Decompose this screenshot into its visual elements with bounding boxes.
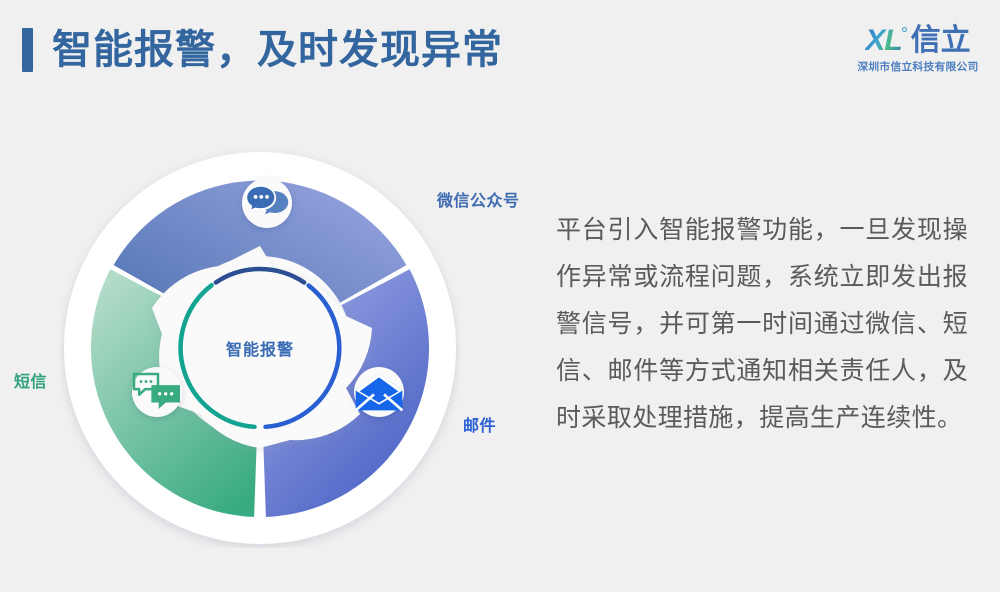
channel-icon-wechat[interactable]	[242, 178, 292, 228]
description-paragraph: 平台引入智能报警功能，一旦发现操作异常或流程问题，系统立即发出报警信号，并可第一…	[556, 206, 968, 441]
title-accent-bar	[22, 28, 33, 72]
label-wechat: 微信公众号	[437, 187, 520, 211]
label-sms: 短信	[14, 368, 47, 392]
sms-chat-bubbles-icon	[132, 192, 182, 592]
channel-icon-sms[interactable]	[132, 367, 182, 417]
logo-wordmark: XL 信立	[848, 26, 988, 56]
company-logo: XL 信立 深圳市信立科技有限公司	[848, 26, 988, 74]
logo-company-full: 深圳市信立科技有限公司	[847, 59, 990, 74]
logo-registered-dot-icon	[902, 27, 907, 32]
wechat-chat-bubbles-icon	[242, 3, 292, 403]
label-email: 邮件	[463, 412, 496, 436]
envelope-icon	[354, 192, 404, 592]
logo-xl-text: XL	[865, 24, 901, 57]
channel-icon-email[interactable]	[354, 367, 404, 417]
alert-channel-donut-diagram: 智能报警	[60, 148, 460, 548]
logo-xl-mark: XL	[865, 26, 906, 56]
logo-company-short: 信立	[911, 26, 971, 56]
page-header: 智能报警，及时发现异常 XL 信立 深圳市信立科技有限公司	[0, 0, 1000, 110]
